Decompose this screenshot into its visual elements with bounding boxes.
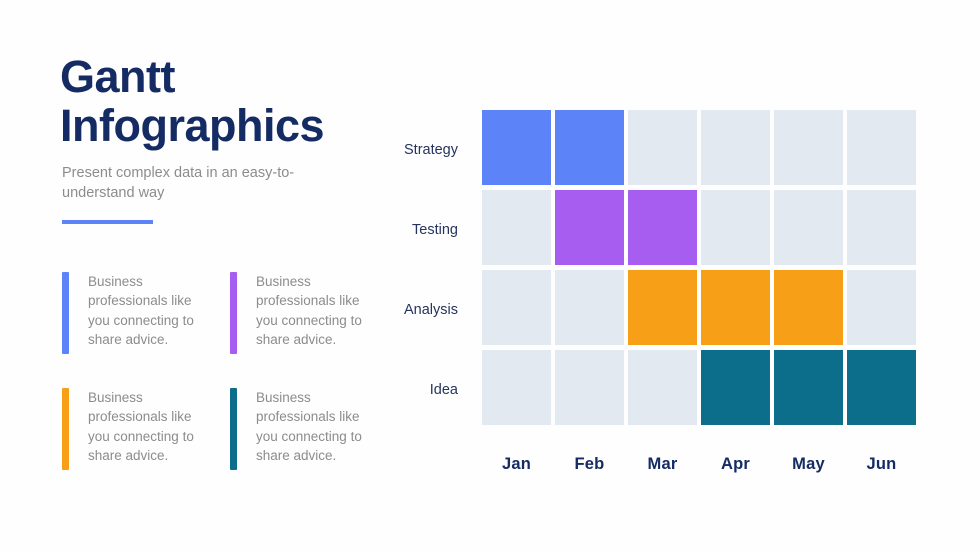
gantt-empty-cell	[847, 270, 916, 345]
gantt-empty-cell	[847, 190, 916, 265]
legend-card-text: Business professionals like you connecti…	[256, 388, 380, 466]
month-label-jan: Jan	[482, 455, 551, 474]
row-label-axis: Strategy Testing Analysis Idea	[396, 110, 458, 430]
gantt-bar-cell	[555, 190, 624, 265]
gantt-empty-cell	[482, 190, 551, 265]
month-label-mar: Mar	[628, 455, 697, 474]
page-title: Gantt Infographics	[60, 52, 400, 150]
month-label-may: May	[774, 455, 843, 474]
legend-card-text: Business professionals like you connecti…	[88, 388, 212, 466]
legend-grid: Business professionals like you connecti…	[62, 272, 402, 504]
gantt-bar-cell	[628, 270, 697, 345]
legend-color-bar	[62, 388, 69, 470]
month-label-axis: Jan Feb Mar Apr May Jun	[482, 455, 916, 474]
legend-card-text: Business professionals like you connecti…	[256, 272, 380, 350]
gantt-empty-cell	[847, 110, 916, 185]
legend-color-bar	[230, 272, 237, 354]
legend-card[interactable]: Business professionals like you connecti…	[230, 272, 398, 388]
gantt-empty-cell	[482, 350, 551, 425]
legend-card-text: Business professionals like you connecti…	[88, 272, 212, 350]
gantt-bar-cell	[847, 350, 916, 425]
gantt-empty-cell	[555, 350, 624, 425]
legend-card[interactable]: Business professionals like you connecti…	[62, 388, 230, 504]
gantt-empty-cell	[701, 110, 770, 185]
gantt-grid	[482, 110, 916, 425]
legend-color-bar	[62, 272, 69, 354]
gantt-bar-cell	[555, 110, 624, 185]
gantt-empty-cell	[628, 350, 697, 425]
row-label-idea: Idea	[396, 350, 458, 430]
gantt-empty-cell	[628, 110, 697, 185]
row-label-testing: Testing	[396, 190, 458, 270]
gantt-bar-cell	[628, 190, 697, 265]
gantt-bar-cell	[774, 270, 843, 345]
gantt-empty-cell	[482, 270, 551, 345]
gantt-bar-cell	[701, 350, 770, 425]
page-subtitle: Present complex data in an easy-to-under…	[62, 163, 322, 203]
gantt-empty-cell	[774, 190, 843, 265]
month-label-feb: Feb	[555, 455, 624, 474]
legend-color-bar	[230, 388, 237, 470]
month-label-apr: Apr	[701, 455, 770, 474]
legend-card[interactable]: Business professionals like you connecti…	[230, 388, 398, 504]
row-label-analysis: Analysis	[396, 270, 458, 350]
gantt-bar-cell	[701, 270, 770, 345]
gantt-empty-cell	[774, 110, 843, 185]
gantt-bar-cell	[774, 350, 843, 425]
row-label-strategy: Strategy	[396, 110, 458, 190]
accent-rule	[62, 220, 153, 224]
gantt-bar-cell	[482, 110, 551, 185]
gantt-empty-cell	[555, 270, 624, 345]
month-label-jun: Jun	[847, 455, 916, 474]
left-panel: Gantt Infographics Present complex data …	[0, 0, 420, 551]
gantt-empty-cell	[701, 190, 770, 265]
legend-card[interactable]: Business professionals like you connecti…	[62, 272, 230, 388]
